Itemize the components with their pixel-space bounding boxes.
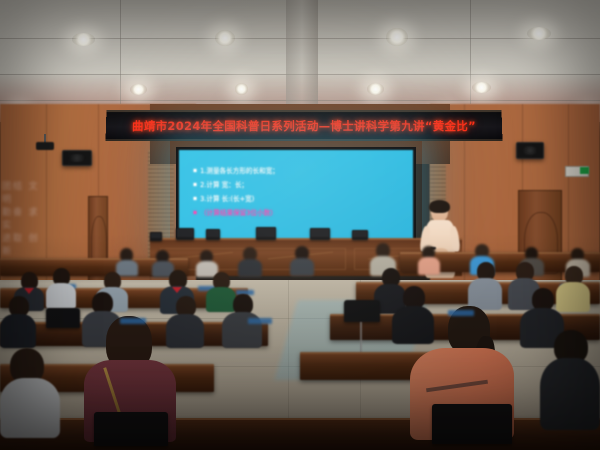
slide-line-text: 3.计算 长:(长+宽) <box>200 194 254 204</box>
bullet-icon: ▪ <box>193 194 197 204</box>
wall-motto-line: 进取 创新 <box>2 232 46 258</box>
presenter-hair <box>429 200 450 213</box>
ceiling-downlight <box>215 30 235 46</box>
slide-line: ▪ 1.测量各长方形的长和宽； <box>193 166 407 176</box>
bullet-icon: ▪ <box>193 180 197 190</box>
person-body <box>238 259 262 277</box>
slide-line: ▪ 3.计算 长:(长+宽) <box>193 194 407 204</box>
desk-monitor <box>176 228 194 240</box>
desk-monitor <box>352 230 368 240</box>
person-body <box>46 283 76 309</box>
person-body <box>290 258 314 276</box>
slide-line-accent: ▪ （计算结果保留3位小数） <box>193 208 407 218</box>
foreground-person-far-left <box>0 348 60 434</box>
audience-person <box>0 296 36 346</box>
student-tablet <box>120 318 146 324</box>
desk-monitor <box>256 227 276 240</box>
ceiling-downlight <box>386 28 408 46</box>
ceiling-downlight <box>472 82 491 93</box>
ceiling-projector <box>36 142 54 150</box>
lecture-hall-photo: 团结 文明 勤奋 求实 进取 创新 曲靖市2024年全国科普日系列活动—博士讲科… <box>0 0 600 450</box>
person-body <box>540 358 600 430</box>
wall-motto-line: 团结 文明 <box>2 180 46 206</box>
chair-back <box>46 308 80 328</box>
exit-sign-icon <box>580 167 589 174</box>
wall-motto-line: 勤奋 求实 <box>2 206 46 232</box>
left-wall-speaker <box>62 150 92 166</box>
led-banner-text: 曲靖市2024年全国科普日系列活动—博士讲科学第九讲“黄金比” <box>132 118 476 134</box>
person-body <box>0 314 36 348</box>
audience-person <box>290 246 314 274</box>
projection-screen: ▪ 1.测量各长方形的长和宽； ▪ 2.计算 宽：长； ▪ 3.计算 长:(长+… <box>179 150 413 240</box>
ceiling-downlight <box>367 83 384 95</box>
right-wall-speaker <box>516 142 544 159</box>
audience-person <box>468 262 502 308</box>
bullet-icon: ▪ <box>193 166 197 176</box>
foreground-person-right <box>540 330 600 428</box>
ceiling-seam <box>120 0 121 104</box>
desk-monitor <box>310 228 330 240</box>
ceiling-downlight <box>72 33 95 46</box>
chair-back <box>94 412 168 446</box>
student-tablet <box>448 310 474 316</box>
ceiling-downlight <box>527 27 551 40</box>
ceiling-downlight <box>235 83 248 95</box>
audience-person <box>116 248 138 274</box>
ceiling-downlight <box>130 84 147 95</box>
slide-line-text: 1.测量各长方形的长和宽； <box>200 166 279 176</box>
person-body <box>418 257 440 275</box>
slide-line: ▪ 2.计算 宽：长； <box>193 180 407 190</box>
slide-line-text: 2.计算 宽：长； <box>200 180 248 190</box>
chair-back <box>344 300 380 322</box>
bullet-icon: ▪ <box>193 208 197 218</box>
audience-person <box>238 247 262 275</box>
chair-back <box>432 404 512 444</box>
desk-monitor <box>206 229 220 240</box>
student-tablet <box>248 318 272 324</box>
wall-motto: 团结 文明 勤奋 求实 进取 创新 <box>2 180 46 258</box>
audience-person <box>46 268 76 308</box>
led-banner: 曲靖市2024年全国科普日系列活动—博士讲科学第九讲“黄金比” <box>106 110 503 141</box>
audience-person <box>418 246 440 274</box>
audience-person <box>196 250 218 274</box>
person-body <box>0 378 60 438</box>
desk-monitor <box>150 232 162 241</box>
ceiling-seam <box>470 0 471 104</box>
slide-line-text: （计算结果保留3位小数） <box>200 208 277 218</box>
